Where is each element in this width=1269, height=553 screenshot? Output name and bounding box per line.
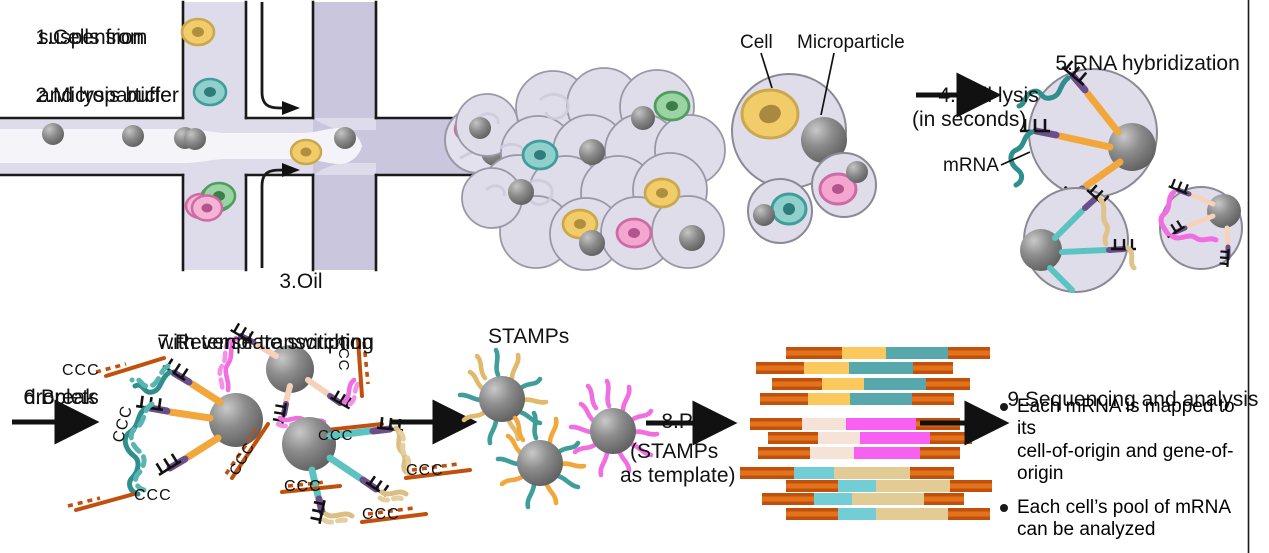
step-6-line2: droplets <box>24 386 99 410</box>
ccc-mark: CCC <box>406 462 444 481</box>
cell-callout-label: Cell <box>740 32 773 54</box>
step-4-number: 4. <box>938 84 956 108</box>
list-item: Each cell’s pool of mRNA can be analyzed <box>1000 497 1250 542</box>
step-3-line1: Oil <box>297 270 323 293</box>
read-group-tan <box>740 467 992 520</box>
ccc-mark: CCC <box>335 336 352 372</box>
bullet-text: Each mRNA is mapped to its cell-of-origi… <box>1017 396 1250 486</box>
mrna-callout-label: mRNA <box>943 155 999 177</box>
read-group-teal <box>756 347 990 405</box>
bullet-dot-icon <box>1000 403 1008 411</box>
ccc-mark: CCC <box>318 427 354 444</box>
droplet-cluster <box>456 68 725 270</box>
step-9-bullet-list: Each mRNA is mapped to its cell-of-origi… <box>1000 396 1250 541</box>
ccc-mark: CCC <box>62 362 100 381</box>
step-5-number: 5. <box>1055 52 1073 76</box>
stamps-label: STAMPs <box>488 325 569 349</box>
ccc-mark: CCC <box>362 506 400 525</box>
step-5-line1: RNA hybridization <box>1073 52 1240 75</box>
step-8-sub1: (STAMPs <box>630 440 718 464</box>
step-5-label: 5.RNA hybridization <box>1032 28 1240 101</box>
step-4-line1: Cell lysis <box>956 84 1039 107</box>
ccc-mark: CCC <box>134 487 172 506</box>
sequencing-reads <box>740 347 992 520</box>
figure-canvas: 1.Cells from suspension 2.Microparticle … <box>0 0 1269 553</box>
bullet-2-line2: can be analyzed <box>1017 519 1231 541</box>
bullet-text: Each cell’s pool of mRNA can be analyzed <box>1017 497 1231 542</box>
step-8-number: 8. <box>661 410 679 434</box>
list-item: Each mRNA is mapped to its cell-of-origi… <box>1000 396 1250 486</box>
microparticle-callout-label: Microparticle <box>797 32 905 54</box>
labeled-droplet-group <box>732 53 876 243</box>
step-8-sub2: as template) <box>620 464 736 488</box>
bullet-1-line1: Each mRNA is mapped to its <box>1017 396 1250 441</box>
bullet-1-line2: cell-of-origin and gene-of-origin <box>1017 441 1250 486</box>
bullet-2-line1: Each cell’s pool of mRNA <box>1017 497 1231 519</box>
step-8-line1: PCR <box>679 410 723 433</box>
bullet-dot-icon <box>1000 504 1008 512</box>
step-4-sublabel: (in seconds) <box>912 108 1026 132</box>
ccc-mark: CCC <box>284 478 322 497</box>
step-2-line2: and lysis buffer <box>38 84 179 108</box>
step-1-line2: suspension <box>38 26 144 50</box>
step-3-number: 3. <box>279 270 297 294</box>
